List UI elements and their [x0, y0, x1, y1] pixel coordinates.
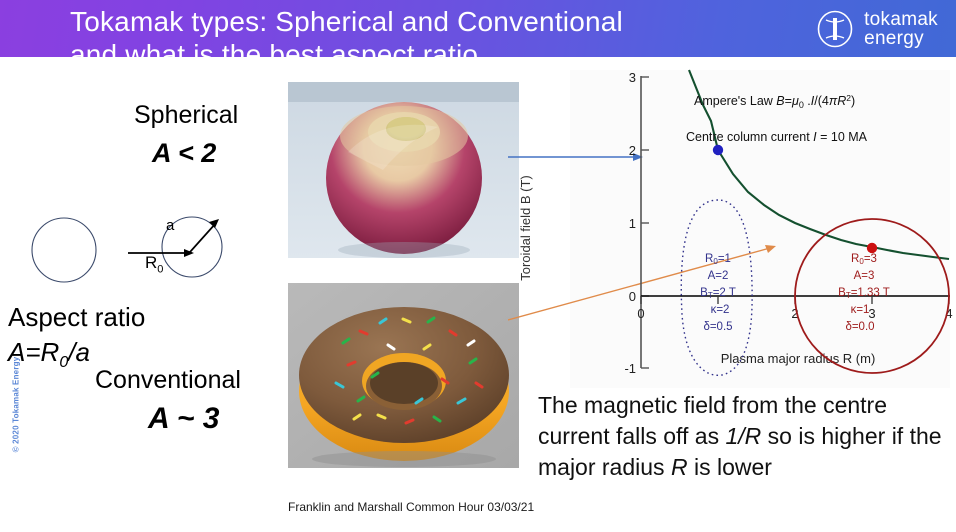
summary-italic-r: R [671, 454, 688, 480]
apple-photo [288, 82, 519, 258]
svg-text:0: 0 [629, 289, 636, 304]
logo-word-tokamak: tokamak [864, 10, 938, 29]
chart-y-axis-label: Toroidal field B (T) [518, 175, 533, 280]
aspect-ratio-diagram-svg [20, 205, 260, 295]
summary-part3: is lower [688, 454, 772, 480]
spherical-aspect-value: A < 2 [152, 138, 216, 169]
minor-radius-arrowhead [209, 219, 219, 228]
apple-photo-svg [288, 82, 519, 258]
svg-text:δ=0.5: δ=0.5 [703, 321, 732, 333]
svg-text:BT=2 T: BT=2 T [700, 287, 736, 300]
minor-radius-arrow-line [190, 223, 216, 252]
svg-text:-1: -1 [624, 361, 636, 376]
svg-text:3: 3 [868, 306, 875, 321]
conventional-data-point [867, 243, 877, 253]
svg-text:1: 1 [629, 216, 636, 231]
copyright-notice: © 2020 Tokamak Energy [12, 345, 21, 465]
page-title-line1: Tokamak types: Spherical and Conventiona… [70, 6, 623, 37]
toroidal-field-chart-svg: 3 2 1 0 -1 Toroidal field B (T) 0 2 3 4 … [508, 68, 956, 393]
aspect-ratio-label: Aspect ratio [8, 302, 145, 333]
logo-wordmark: tokamak energy [864, 10, 938, 48]
title-banner: Tokamak types: Spherical and Conventiona… [0, 0, 956, 57]
svg-text:κ=2: κ=2 [711, 304, 730, 316]
page-title: Tokamak types: Spherical and Conventiona… [70, 5, 750, 57]
tokamak-energy-logo: tokamak energy [815, 8, 938, 50]
svg-text:3: 3 [629, 70, 636, 85]
formula-sub: 0 [59, 353, 68, 371]
svg-text:δ=0.0: δ=0.0 [845, 321, 874, 333]
aspect-ratio-diagram: a R0 [20, 205, 260, 295]
centre-column-current-annotation: Centre column current I = 10 MA [686, 130, 868, 144]
svg-text:A=3: A=3 [854, 270, 875, 282]
donut-photo [288, 283, 519, 468]
tokamak-circle-icon [815, 9, 855, 49]
svg-text:R0=3: R0=3 [851, 253, 877, 266]
formula-tail: /a [68, 337, 90, 367]
svg-text:R0=1: R0=1 [705, 253, 731, 266]
svg-text:κ=1: κ=1 [851, 304, 870, 316]
slide-caption: Franklin and Marshall Common Hour 03/03/… [288, 500, 534, 514]
page-title-line2: and what is the best aspect ratio [70, 38, 750, 57]
svg-text:0: 0 [637, 306, 644, 321]
minor-radius-label: a [166, 217, 174, 234]
spherical-data-point [713, 145, 723, 155]
svg-text:A=2: A=2 [708, 270, 729, 282]
toroidal-field-chart: 3 2 1 0 -1 Toroidal field B (T) 0 2 3 4 … [508, 68, 956, 393]
conventional-label: Conventional [95, 366, 241, 395]
conventional-aspect-value: A ~ 3 [148, 402, 219, 436]
logo-word-energy: energy [864, 29, 938, 48]
chart-plot-background [570, 70, 950, 388]
amperes-law-annotation: Ampere's Law B=μ0 .I/(4πR2) [694, 93, 855, 110]
chart-x-axis-label: Plasma major radius R (m) [721, 351, 876, 366]
donut-photo-svg [288, 283, 519, 468]
spherical-plasma-circle [32, 218, 96, 282]
svg-text:2: 2 [629, 143, 636, 158]
major-radius-label: R0 [145, 253, 163, 275]
summary-text: The magnetic field from the centre curre… [538, 390, 950, 483]
summary-italic-one-over-r: 1/R [726, 423, 762, 449]
spherical-label: Spherical [134, 101, 238, 130]
